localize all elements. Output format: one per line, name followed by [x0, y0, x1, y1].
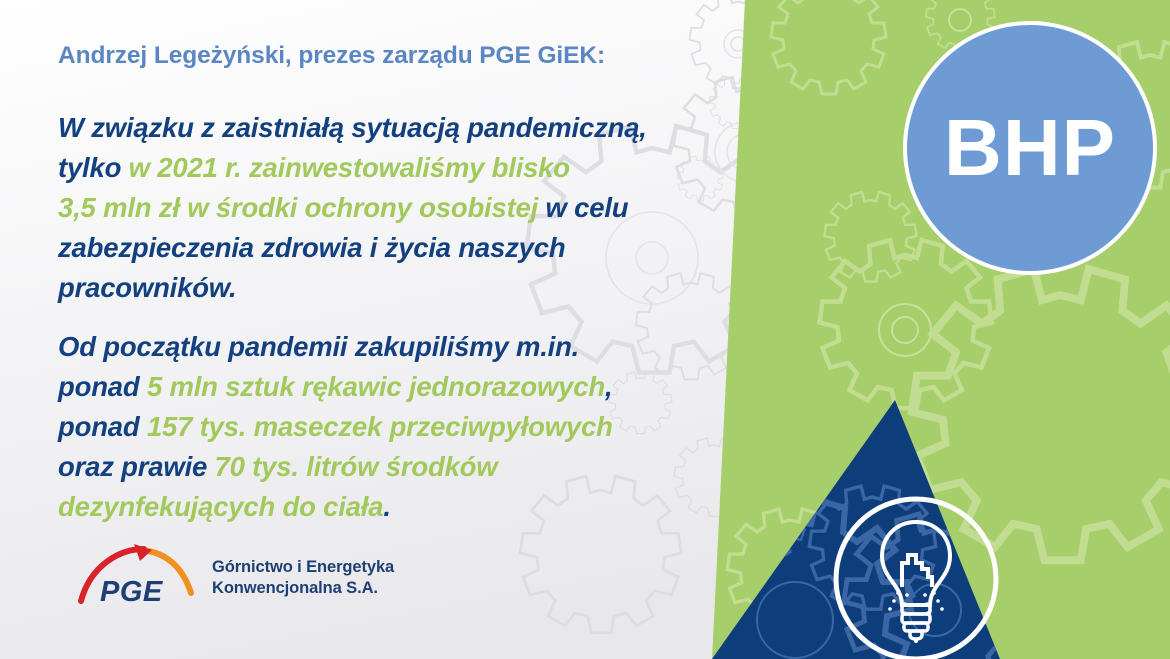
lightbulb-icon — [826, 489, 1006, 659]
bhp-badge-label: BHP — [944, 108, 1116, 188]
pge-logo-text-line2: Konwencjonalna S.A. — [212, 578, 394, 599]
pge-logo-text-line1: Górnictwo i Energetyka — [212, 557, 394, 578]
pge-logo: PGE Górnictwo i Energetyka Konwencjonaln… — [78, 543, 394, 613]
pge-logo-text: Górnictwo i Energetyka Konwencjonalna S.… — [212, 557, 394, 599]
lightbulb-badge — [826, 489, 1006, 659]
bhp-badge: BHP — [903, 21, 1157, 275]
pge-logo-mark: PGE — [78, 543, 196, 613]
slide-canvas: BHP — [0, 0, 1170, 659]
pge-arc-icon: PGE — [78, 543, 196, 613]
svg-text:PGE: PGE — [100, 576, 164, 608]
